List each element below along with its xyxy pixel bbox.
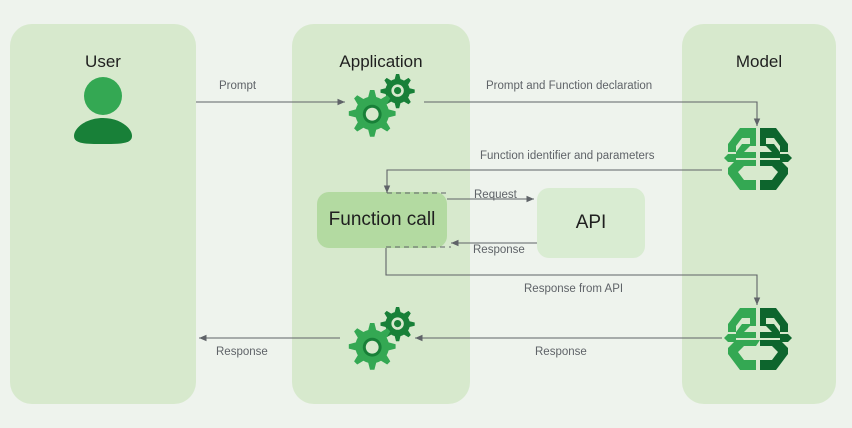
gears-icon [348,305,420,371]
edge-label-model-response: Response [535,346,587,358]
node-function-call-label: Function call [329,209,436,231]
edge-label-app-response: Response [216,346,268,358]
node-api[interactable]: API [537,188,645,258]
edge-label-function-identifier-and-parameters: Function identifier and parameters [480,150,655,162]
user-avatar-icon [74,76,132,144]
gears-icon [348,72,420,138]
model-brain-icon [722,304,794,374]
edge-label-response-from-api: Response from API [524,283,623,295]
function-calling-diagram: User Application Model [0,0,852,428]
model-brain-icon [722,124,794,194]
node-function-call[interactable]: Function call [317,192,447,248]
lane-title-model: Model [682,52,836,72]
lane-title-user: User [10,52,196,72]
edge-label-request: Request [474,189,517,201]
lane-title-application: Application [292,52,470,72]
edge-label-api-response: Response [473,244,525,256]
edge-label-prompt-and-function-declaration: Prompt and Function declaration [486,80,652,92]
node-api-label: API [576,212,607,234]
edge-label-prompt: Prompt [219,80,256,92]
